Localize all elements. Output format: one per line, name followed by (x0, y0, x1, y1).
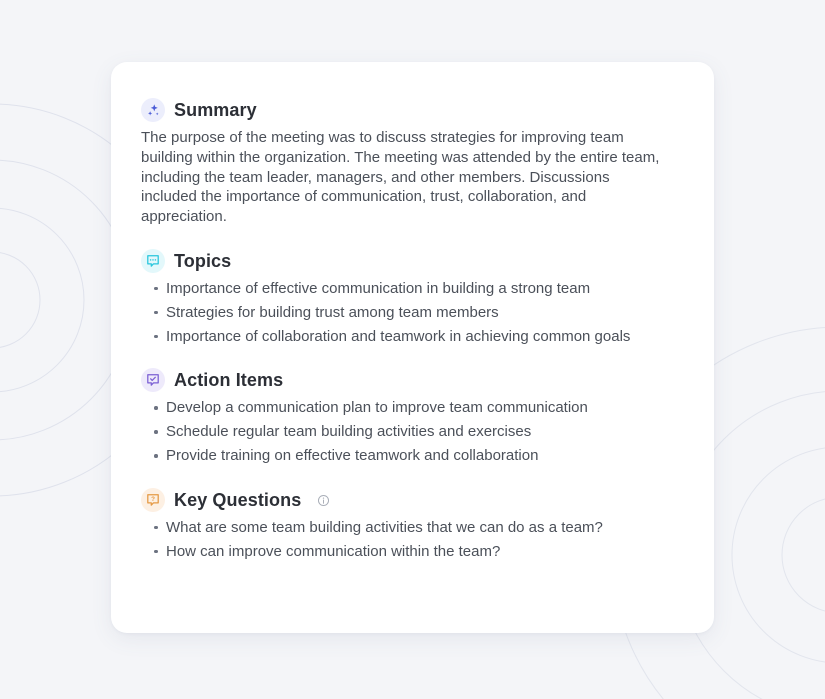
chat-question-icon: ? (141, 488, 165, 512)
list-item: Schedule regular team building activitie… (141, 422, 684, 442)
sparkle-icon (141, 98, 165, 122)
section-title-action-items: Action Items (174, 369, 283, 391)
list-item: Develop a communication plan to improve … (141, 398, 684, 418)
summary-paragraph: The purpose of the meeting was to discus… (141, 128, 666, 227)
section-topics: Topics Importance of effective communica… (141, 249, 684, 347)
list-item: What are some team building activities t… (141, 518, 684, 538)
section-action-items: Action Items Develop a communication pla… (141, 368, 684, 466)
section-summary-header: Summary (141, 98, 684, 122)
section-title-summary: Summary (174, 99, 257, 121)
info-circle-icon[interactable] (317, 494, 330, 507)
section-topics-header: Topics (141, 249, 684, 273)
section-title-topics: Topics (174, 250, 231, 272)
action-items-list: Develop a communication plan to improve … (141, 398, 684, 466)
section-summary: Summary The purpose of the meeting was t… (141, 98, 684, 227)
list-item: How can improve communication within the… (141, 542, 684, 562)
key-questions-list: What are some team building activities t… (141, 518, 684, 562)
section-title-key-questions: Key Questions (174, 489, 301, 511)
section-key-questions-header: ? Key Questions (141, 488, 684, 512)
list-item: Importance of collaboration and teamwork… (141, 327, 684, 347)
meeting-summary-card: Summary The purpose of the meeting was t… (111, 62, 714, 633)
topics-list: Importance of effective communication in… (141, 279, 684, 347)
list-item: Strategies for building trust among team… (141, 303, 684, 323)
svg-text:?: ? (151, 496, 155, 503)
chat-dots-icon (141, 249, 165, 273)
list-item: Importance of effective communication in… (141, 279, 684, 299)
section-action-items-header: Action Items (141, 368, 684, 392)
section-key-questions: ? Key Questions What are some team build… (141, 488, 684, 562)
chat-check-icon (141, 368, 165, 392)
list-item: Provide training on effective teamwork a… (141, 446, 684, 466)
